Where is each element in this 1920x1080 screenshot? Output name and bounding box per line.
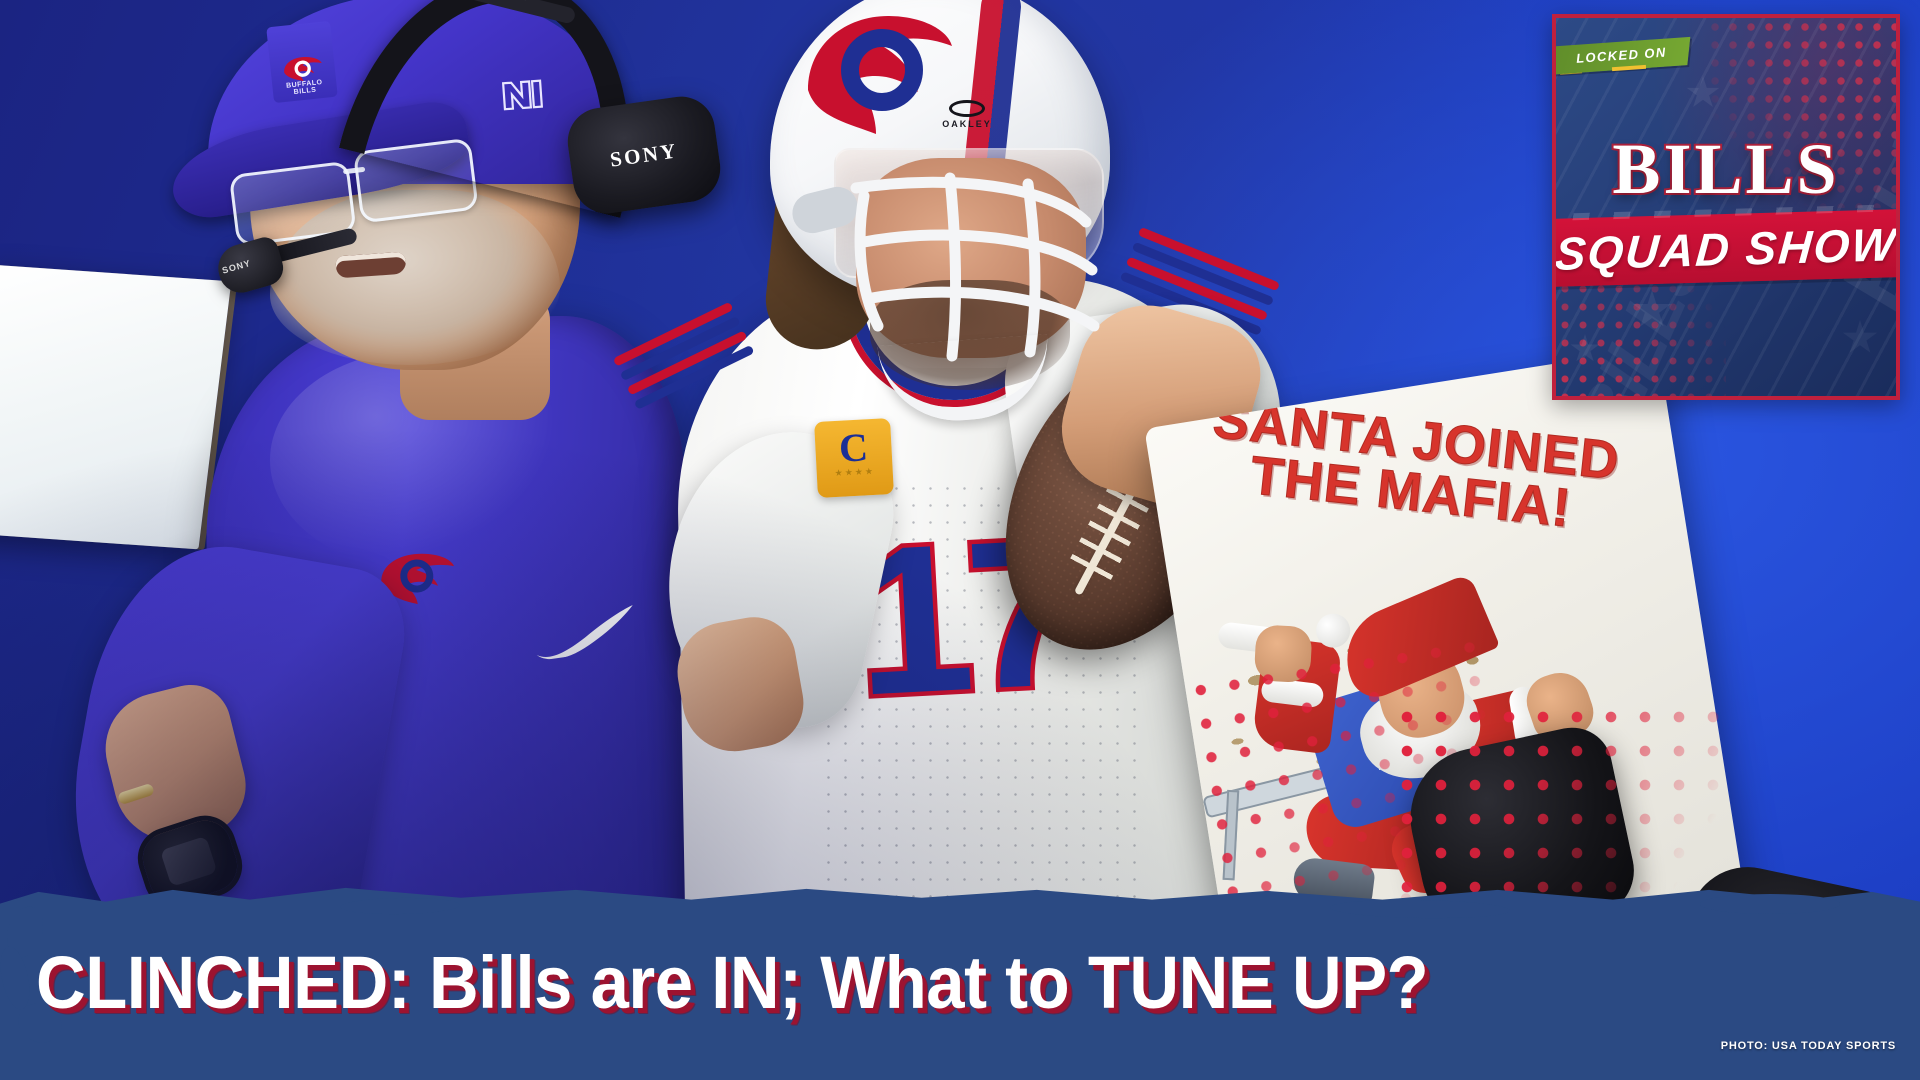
captain-patch-stars: ★★★★ — [834, 466, 875, 479]
cap-patch-label-2: BILLS — [293, 87, 316, 97]
thumbnail-canvas: BUFFALO BILLS SONY SONY SONY 17 — [0, 0, 1920, 1080]
oakley-visor-brand: OAKLEY — [912, 100, 1022, 134]
captain-patch-letter: C — [838, 431, 869, 464]
qb-captain-patch: C ★★★★ — [814, 418, 894, 498]
oakley-label: OAKLEY — [942, 119, 992, 129]
clipboard — [0, 265, 231, 550]
logo-title-bills: BILLS — [1556, 128, 1896, 211]
oakley-ellipse-icon — [949, 100, 985, 117]
show-logo-badge: BILLS BILLS LOCKED ON BILLS SQUAD SHOW — [1552, 14, 1900, 400]
fan-sign-text: SANTA JOINED THE MAFIA! — [1189, 392, 1637, 541]
headline-container: CLINCHED: Bills are IN; What to TUNE UP? — [0, 884, 1920, 1080]
photo-credit: PHOTO: USA TODAY SPORTS — [1721, 1040, 1896, 1052]
logo-subtitle-squad-show: SQUAD SHOW — [1552, 217, 1900, 281]
locked-on-label: LOCKED ON — [1576, 45, 1667, 66]
coach-cap-bills-patch: BUFFALO BILLS — [266, 21, 338, 103]
headline-text: CLINCHED: Bills are IN; What to TUNE UP? — [36, 940, 1428, 1025]
microphone-brand-label: SONY — [221, 258, 252, 276]
